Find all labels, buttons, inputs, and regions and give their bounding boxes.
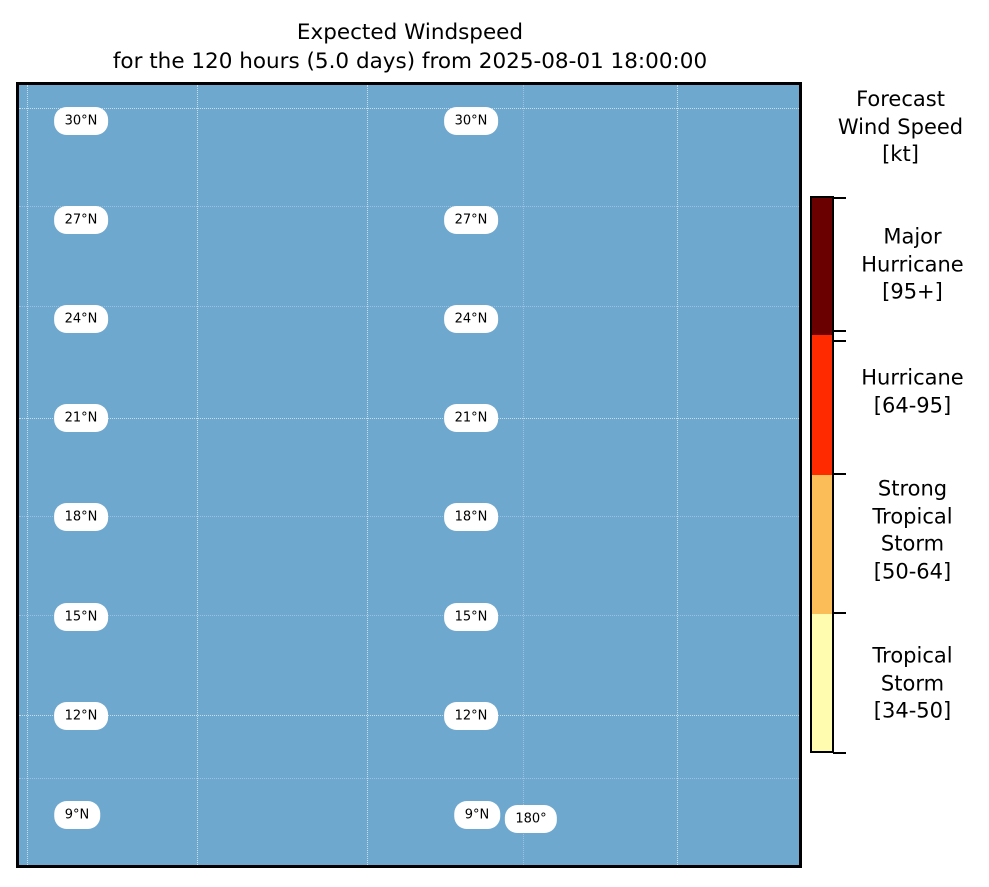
lat-label-27n-right: 27°N xyxy=(446,208,497,233)
lat-label-12n-left: 12°N xyxy=(56,704,107,729)
lat-label-24n-left: 24°N xyxy=(56,307,107,332)
gridline-vertical xyxy=(367,85,368,865)
colorbar-label-hurricane: Hurricane [64-95] xyxy=(836,364,989,419)
colorbar-label-line: Tropical xyxy=(836,642,989,670)
lat-label-18n-right: 18°N xyxy=(446,505,497,530)
colorbar-tick-95 xyxy=(833,330,846,332)
colorbar-tick-34 xyxy=(833,752,846,754)
lat-label-21n-left: 21°N xyxy=(56,406,107,431)
colorbar-segment-tropical-storm[interactable] xyxy=(812,614,832,753)
colorbar-label-strong-tropical-storm: Strong Tropical Storm [50-64] xyxy=(836,476,989,587)
gridline-horizontal xyxy=(19,715,799,716)
colorbar-segment-strong-tropical-storm[interactable] xyxy=(812,475,832,614)
gridline-horizontal xyxy=(19,206,799,207)
colorbar-tick-50 xyxy=(833,612,846,614)
lat-label-15n-left: 15°N xyxy=(56,605,107,630)
colorbar-title-line-3: [kt] xyxy=(812,141,989,169)
colorbar-label-line: [50-64] xyxy=(836,559,989,587)
lat-label-24n-right: 24°N xyxy=(446,307,497,332)
colorbar-label-major-hurricane: Major Hurricane [95+] xyxy=(836,223,989,306)
lat-label-21n-right: 21°N xyxy=(446,406,497,431)
gridline-horizontal xyxy=(19,108,799,109)
gridline-vertical xyxy=(523,85,524,865)
colorbar-label-tropical-storm: Tropical Storm [34-50] xyxy=(836,642,989,725)
colorbar-label-line: [34-50] xyxy=(836,698,989,726)
gridline-horizontal xyxy=(19,516,799,517)
colorbar-label-line: [64-95] xyxy=(836,392,989,420)
colorbar-title-line-2: Wind Speed xyxy=(812,114,989,142)
lat-label-30n-left: 30°N xyxy=(56,109,107,134)
page-title-line-2: for the 120 hours (5.0 days) from 2025-0… xyxy=(0,47,820,76)
lat-label-12n-right: 12°N xyxy=(446,704,497,729)
page-title-line-1: Expected Windspeed xyxy=(0,18,820,47)
colorbar-tick-top xyxy=(833,197,846,199)
colorbar-label-line: Tropical xyxy=(836,503,989,531)
gridline-horizontal xyxy=(19,778,799,779)
lat-label-18n-left: 18°N xyxy=(56,505,107,530)
colorbar-label-line: Storm xyxy=(836,670,989,698)
colorbar-label-line: Hurricane xyxy=(836,364,989,392)
colorbar-label-line: Storm xyxy=(836,531,989,559)
lon-label-180: 180° xyxy=(506,807,555,832)
colorbar[interactable] xyxy=(810,196,834,753)
lat-label-9n-left: 9°N xyxy=(56,803,99,828)
gridline-vertical xyxy=(197,85,198,865)
gridline-horizontal xyxy=(19,615,799,616)
map-panel[interactable]: 30°N 27°N 24°N 21°N 18°N 15°N 12°N 9°N 3… xyxy=(16,82,802,868)
colorbar-label-line: Strong xyxy=(836,476,989,504)
lat-label-9n-right: 9°N xyxy=(456,803,499,828)
gridline-horizontal xyxy=(19,306,799,307)
colorbar-tick-95-lower xyxy=(833,340,846,342)
colorbar-label-line: Hurricane xyxy=(836,251,989,279)
lat-label-15n-right: 15°N xyxy=(446,605,497,630)
lat-label-27n-left: 27°N xyxy=(56,208,107,233)
colorbar-title-line-1: Forecast xyxy=(812,86,989,114)
gridline-vertical xyxy=(27,85,28,865)
ocean-background xyxy=(19,85,799,865)
gridline-horizontal xyxy=(19,418,799,419)
page-title: Expected Windspeed for the 120 hours (5.… xyxy=(0,18,820,76)
lat-label-30n-right: 30°N xyxy=(446,109,497,134)
colorbar-title: Forecast Wind Speed [kt] xyxy=(812,86,989,169)
colorbar-label-line: [95+] xyxy=(836,279,989,307)
colorbar-label-line: Major xyxy=(836,223,989,251)
colorbar-segment-major-hurricane[interactable] xyxy=(812,198,832,335)
colorbar-segment-hurricane[interactable] xyxy=(812,335,832,475)
gridline-vertical xyxy=(677,85,678,865)
